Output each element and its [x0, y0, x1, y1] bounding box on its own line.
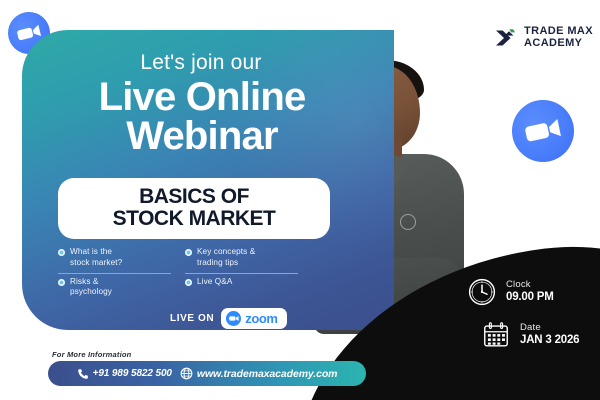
- bullet-line-2: stock market?: [70, 258, 122, 267]
- brand-line-1: TRADE MAX: [524, 26, 593, 38]
- bullet-text: What is the stock market?: [70, 247, 122, 269]
- topic-title-card: BASICS OF STOCK MARKET: [58, 178, 330, 239]
- agenda-column-right: Key concepts & trading tips Live Q&A: [185, 244, 298, 302]
- date-value: JAN 3 2026: [520, 334, 579, 347]
- bullet-line-1: Risks &: [70, 277, 98, 286]
- live-on-label: LIVE ON: [170, 313, 214, 324]
- bullet-line-2: psychology: [70, 287, 112, 296]
- bullet-dot-icon: [185, 279, 192, 286]
- bullet-line-2: trading tips: [197, 258, 238, 267]
- main-content-panel: Let's join our Live Online Webinar BASIC…: [22, 30, 394, 330]
- bullet-text: Risks & psychology: [70, 277, 112, 299]
- bullet-text: Key concepts & trading tips: [197, 247, 255, 269]
- clock-label: Clock: [506, 280, 554, 291]
- agenda-column-left: What is the stock market? Risks & psycho…: [58, 244, 171, 302]
- video-camera-icon: [523, 116, 563, 147]
- kicker-text: Let's join our: [22, 52, 380, 73]
- live-on-zoom: LIVE ON zoom: [170, 308, 287, 329]
- clock-info: Clock 09.00 PM: [467, 277, 554, 307]
- brand-line-2: ACADEMY: [524, 38, 593, 50]
- agenda-bullets: What is the stock market? Risks & psycho…: [58, 244, 298, 302]
- bullet-line-1: Live Q&A: [197, 277, 232, 286]
- bullet-text: Live Q&A: [197, 277, 232, 288]
- brand-logo: TRADE MAX ACADEMY: [494, 26, 593, 49]
- page-title: Live Online Webinar: [22, 78, 382, 156]
- more-info-label: For More Information: [52, 350, 131, 359]
- calendar-icon: [481, 320, 511, 350]
- webinar-promo-poster: Let's join our Live Online Webinar BASIC…: [0, 0, 600, 400]
- video-camera-icon: [229, 315, 239, 322]
- website-contact[interactable]: www.trademaxacademy.com: [180, 367, 338, 380]
- clock-text: Clock 09.00 PM: [506, 280, 554, 304]
- phone-number: +91 989 5822 500: [93, 368, 172, 379]
- bullet-line-1: What is the: [70, 247, 112, 256]
- list-item: Key concepts & trading tips: [185, 244, 298, 273]
- date-label: Date: [520, 323, 579, 334]
- headline-line-2: Webinar: [22, 117, 382, 156]
- bullet-dot-icon: [58, 279, 65, 286]
- zoom-badge[interactable]: zoom: [221, 308, 286, 329]
- phone-contact[interactable]: +91 989 5822 500: [77, 368, 172, 380]
- bullet-dot-icon: [58, 249, 65, 256]
- contact-bar: +91 989 5822 500 www.trademaxacademy.com: [48, 361, 366, 386]
- clock-value: 09.00 PM: [506, 291, 554, 304]
- arrow-chart-icon: [494, 27, 518, 49]
- topic-line-2: STOCK MARKET: [68, 208, 320, 230]
- date-info: Date JAN 3 2026: [481, 320, 579, 350]
- headline-line-1: Live Online: [99, 75, 306, 119]
- website-url: www.trademaxacademy.com: [197, 368, 338, 380]
- topic-line-1: BASICS OF: [68, 186, 320, 208]
- clock-icon: [467, 277, 497, 307]
- list-item: Live Q&A: [185, 273, 298, 292]
- brand-logo-text: TRADE MAX ACADEMY: [524, 26, 593, 49]
- list-item: What is the stock market?: [58, 244, 171, 273]
- list-item: Risks & psychology: [58, 273, 171, 303]
- phone-icon: [77, 368, 89, 380]
- bullet-line-1: Key concepts &: [197, 247, 255, 256]
- zoom-camera-icon: [226, 311, 241, 326]
- presenter-shirt-logo: [400, 214, 416, 230]
- video-camera-badge-right: [506, 94, 580, 168]
- date-text: Date JAN 3 2026: [520, 323, 579, 347]
- globe-icon: [180, 367, 193, 380]
- zoom-wordmark: zoom: [245, 311, 277, 326]
- bullet-dot-icon: [185, 249, 192, 256]
